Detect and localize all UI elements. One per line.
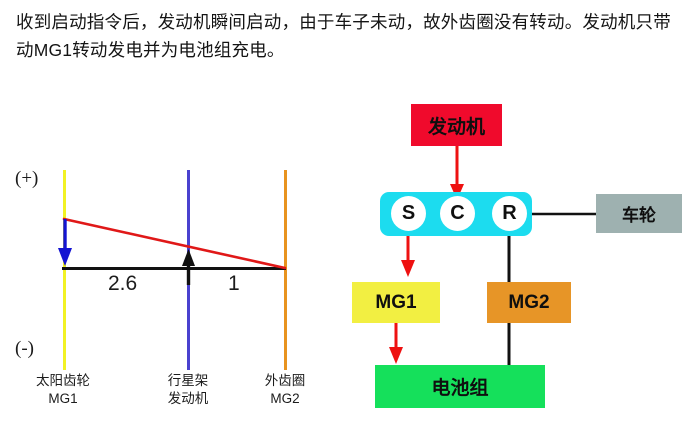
diagram-connectors bbox=[0, 0, 700, 433]
sun-gear-node[interactable]: S bbox=[391, 196, 426, 231]
mg1-box[interactable]: MG1 bbox=[352, 282, 440, 323]
mg2-box[interactable]: MG2 bbox=[487, 282, 571, 323]
connector-mg1-to-battery-arrow bbox=[389, 323, 403, 364]
engine-box[interactable]: 发动机 bbox=[411, 104, 502, 146]
carrier-gear-node[interactable]: C bbox=[440, 196, 475, 231]
battery-pack-box[interactable]: 电池组 bbox=[375, 365, 545, 408]
ring-gear-node[interactable]: R bbox=[492, 196, 527, 231]
wheel-box[interactable]: 车轮 bbox=[596, 194, 682, 233]
powertrain-block-diagram: 发动机 车轮 MG1 MG2 电池组 S C R bbox=[0, 0, 700, 433]
connector-sun-to-mg1-arrow bbox=[401, 231, 415, 277]
